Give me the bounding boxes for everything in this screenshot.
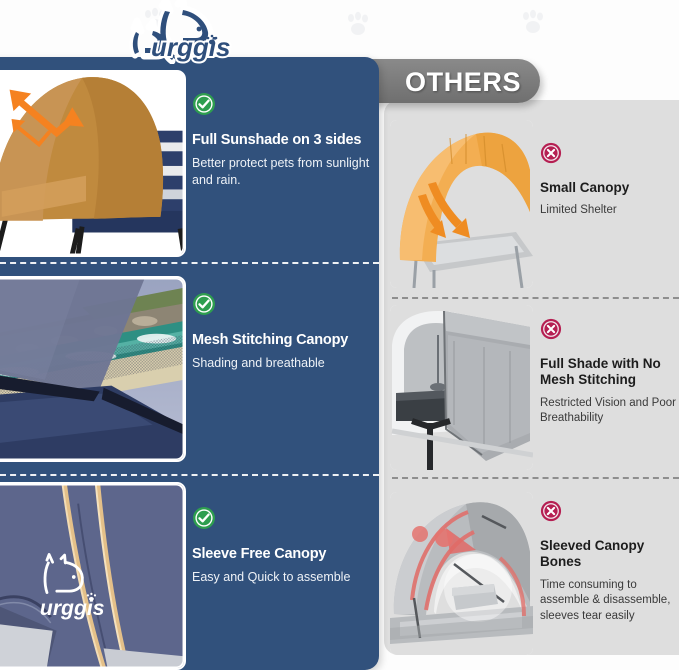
- pro-title-3: Sleeve Free Canopy: [192, 546, 377, 563]
- con-title-1: Small Canopy: [540, 180, 676, 196]
- divider-left-2: [0, 474, 379, 476]
- con-subtitle-3: Time consuming to assemble & disassemble…: [540, 578, 676, 625]
- con-item-1: Small Canopy Limited Shelter: [540, 142, 676, 219]
- check-circle-icon: [192, 292, 377, 321]
- pro-image-1: [0, 70, 186, 257]
- paw-print-icon: [343, 10, 373, 45]
- pro-subtitle-1: Better protect pets from sunlight and ra…: [192, 155, 377, 188]
- con-item-2: Full Shade with No Mesh Stitching Restri…: [540, 318, 676, 427]
- brand-logo: urggis urggis: [104, 0, 254, 64]
- con-item-3: Sleeved Canopy Bones Time consuming to a…: [540, 500, 676, 624]
- svg-text:urggis: urggis: [40, 597, 105, 620]
- pro-subtitle-2: Shading and breathable: [192, 355, 377, 372]
- pro-item-1: Full Sunshade on 3 sides Better protect …: [192, 92, 377, 189]
- divider-right-1: [392, 297, 679, 299]
- pro-title-2: Mesh Stitching Canopy: [192, 332, 377, 349]
- con-image-3: [390, 492, 533, 655]
- pro-subtitle-3: Easy and Quick to assemble: [192, 569, 377, 586]
- check-circle-icon: [192, 92, 377, 121]
- divider-left-1: [0, 262, 379, 264]
- pro-title-1: Full Sunshade on 3 sides: [192, 132, 377, 149]
- check-circle-icon: [192, 506, 377, 535]
- pro-item-3: Sleeve Free Canopy Easy and Quick to ass…: [192, 506, 377, 586]
- con-subtitle-1: Limited Shelter: [540, 203, 676, 219]
- cross-circle-icon: [540, 500, 676, 527]
- pro-image-3: urggis: [0, 482, 186, 670]
- con-title-2: Full Shade with No Mesh Stitching: [540, 356, 676, 389]
- comparison-infographic: OTHERS urggis urggis: [0, 0, 679, 670]
- divider-right-2: [392, 477, 679, 479]
- con-image-1: [390, 120, 533, 288]
- svg-text:urggis: urggis: [151, 32, 230, 62]
- con-image-2: [390, 305, 533, 470]
- paw-print-icon: [518, 8, 548, 43]
- con-title-3: Sleeved Canopy Bones: [540, 538, 676, 571]
- pro-item-2: Mesh Stitching Canopy Shading and breath…: [192, 292, 377, 372]
- con-subtitle-2: Restricted Vision and Poor Breathability: [540, 396, 676, 427]
- cross-circle-icon: [540, 142, 676, 169]
- dog-cat-logo-icon: urggis urggis: [104, 0, 254, 64]
- pro-image-2: [0, 276, 186, 462]
- cross-circle-icon: [540, 318, 676, 345]
- others-label: OTHERS: [405, 67, 521, 98]
